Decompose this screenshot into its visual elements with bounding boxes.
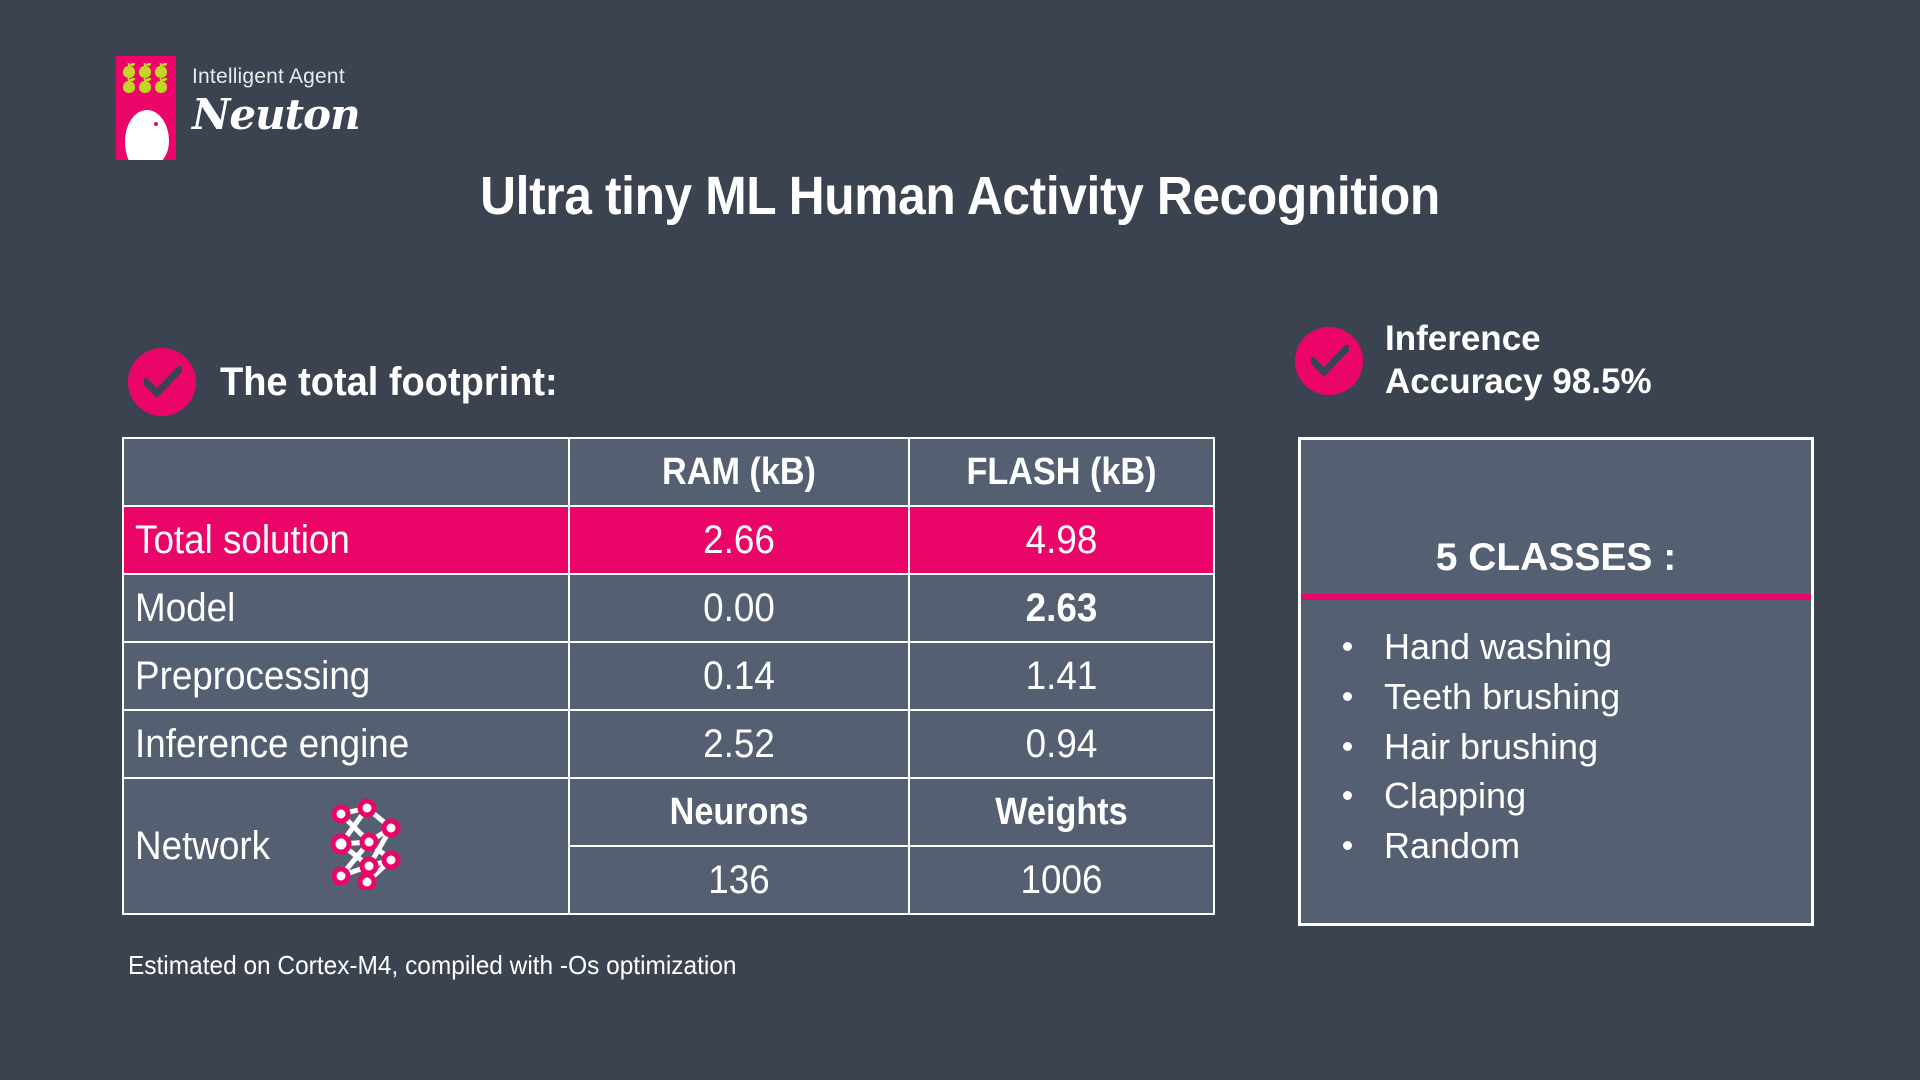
apple-icon bbox=[123, 81, 135, 93]
bullet-icon bbox=[1343, 742, 1352, 751]
network-neurons-header: Neurons bbox=[569, 778, 909, 846]
table-row: Model 0.00 2.63 bbox=[123, 574, 1214, 642]
list-item: Hair brushing bbox=[1343, 724, 1811, 771]
apple-icon bbox=[139, 81, 151, 93]
head-silhouette-icon bbox=[125, 110, 169, 160]
network-label-cell: Network bbox=[123, 778, 569, 914]
page-title: Ultra tiny ML Human Activity Recognition bbox=[77, 165, 1843, 227]
row-ram-cell: 2.66 bbox=[569, 506, 909, 574]
logo-wordmark: Intelligent Agent Neuton bbox=[192, 56, 360, 137]
slide-root: Intelligent Agent Neuton Ultra tiny ML H… bbox=[0, 0, 1920, 1080]
row-ram-cell: 2.52 bbox=[569, 710, 909, 778]
header-cell-blank bbox=[123, 438, 569, 506]
list-item: Clapping bbox=[1343, 773, 1811, 820]
network-neurons-value: 136 bbox=[569, 846, 909, 914]
apple-grid-icon bbox=[123, 66, 169, 93]
list-item: Teeth brushing bbox=[1343, 674, 1811, 721]
bullet-icon bbox=[1343, 692, 1352, 701]
check-icon bbox=[144, 366, 182, 398]
check-badge-icon bbox=[128, 348, 196, 416]
table-row: Preprocessing 0.14 1.41 bbox=[123, 642, 1214, 710]
classes-panel: 5 CLASSES : Hand washing Teeth brushing … bbox=[1298, 437, 1814, 926]
list-item: Hand washing bbox=[1343, 624, 1811, 671]
network-label: Network bbox=[124, 824, 270, 869]
classes-panel-title: 5 CLASSES : bbox=[1301, 440, 1811, 580]
table-footnote: Estimated on Cortex-M4, compiled with -O… bbox=[128, 950, 737, 981]
class-label: Hair brushing bbox=[1384, 724, 1598, 771]
row-flash-cell: 4.98 bbox=[909, 506, 1214, 574]
logo-brand-name: Neuton bbox=[192, 93, 360, 137]
row-flash-cell: 1.41 bbox=[909, 642, 1214, 710]
apple-icon bbox=[139, 66, 151, 78]
row-label-cell: Inference engine bbox=[123, 710, 569, 778]
bullet-icon bbox=[1343, 791, 1352, 800]
logo-tagline: Intelligent Agent bbox=[192, 66, 360, 87]
accuracy-heading: Inference Accuracy 98.5% bbox=[1295, 318, 1652, 403]
apple-icon bbox=[155, 81, 167, 93]
row-ram-cell: 0.14 bbox=[569, 642, 909, 710]
row-label-cell: Preprocessing bbox=[123, 642, 569, 710]
header-cell-ram: RAM (kB) bbox=[569, 438, 909, 506]
check-badge-icon bbox=[1295, 327, 1363, 395]
class-label: Hand washing bbox=[1384, 624, 1612, 671]
network-weights-header: Weights bbox=[909, 778, 1214, 846]
logo-mark-icon bbox=[116, 56, 176, 160]
classes-list: Hand washing Teeth brushing Hair brushin… bbox=[1301, 600, 1811, 870]
class-label: Random bbox=[1384, 823, 1520, 870]
class-label: Clapping bbox=[1384, 773, 1526, 820]
network-header-row: Network bbox=[123, 778, 1214, 846]
row-label-cell: Total solution bbox=[123, 506, 569, 574]
brand-logo: Intelligent Agent Neuton bbox=[116, 56, 360, 160]
footprint-heading: The total footprint: bbox=[128, 348, 575, 416]
table-row: Total solution 2.66 4.98 bbox=[123, 506, 1214, 574]
row-flash-cell: 0.94 bbox=[909, 710, 1214, 778]
header-cell-flash: FLASH (kB) bbox=[909, 438, 1214, 506]
check-icon bbox=[1311, 345, 1349, 377]
apple-icon bbox=[123, 66, 135, 78]
footprint-heading-label: The total footprint: bbox=[220, 360, 558, 405]
neural-network-icon bbox=[327, 798, 405, 895]
bullet-icon bbox=[1343, 841, 1352, 850]
list-item: Random bbox=[1343, 823, 1811, 870]
accuracy-heading-label: Inference Accuracy 98.5% bbox=[1385, 318, 1652, 403]
class-label: Teeth brushing bbox=[1384, 674, 1620, 721]
bullet-icon bbox=[1343, 642, 1352, 651]
table-row: Inference engine 2.52 0.94 bbox=[123, 710, 1214, 778]
row-ram-cell: 0.00 bbox=[569, 574, 909, 642]
apple-icon bbox=[155, 66, 167, 78]
row-flash-cell: 2.63 bbox=[909, 574, 1214, 642]
table-header-row: RAM (kB) FLASH (kB) bbox=[123, 438, 1214, 506]
footprint-table: RAM (kB) FLASH (kB) Total solution 2.66 … bbox=[122, 437, 1215, 915]
row-label-cell: Model bbox=[123, 574, 569, 642]
network-weights-value: 1006 bbox=[909, 846, 1214, 914]
